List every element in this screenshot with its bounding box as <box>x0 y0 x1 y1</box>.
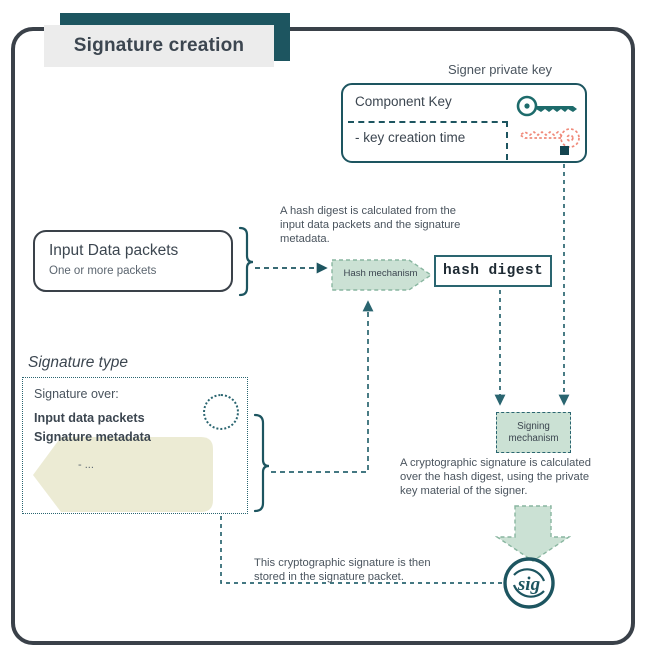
signature-over-label: Signature over: <box>34 387 119 401</box>
signature-metadata-tag-shape <box>33 437 213 512</box>
signature-output-arrow <box>495 505 571 563</box>
hash-digest-box: hash digest <box>434 255 552 287</box>
key-solid-icon <box>518 97 577 115</box>
signer-private-key-label: Signer private key <box>448 62 552 77</box>
stored-signature-text: This cryptographic signature is then sto… <box>254 556 474 584</box>
signature-badge-icon: sig <box>503 557 555 609</box>
key-dashed-icon <box>520 129 579 147</box>
component-key-box: Component Key - key creation time <box>341 83 587 163</box>
private-key-anchor-node <box>560 146 569 155</box>
signature-over-item-0: Input data packets <box>34 411 145 425</box>
signature-badge-label: sig <box>517 574 540 595</box>
collector-circle-node <box>203 394 239 430</box>
signing-description-text: A cryptographic signature is calculated … <box>400 456 640 498</box>
component-key-title: Component Key <box>355 94 452 109</box>
diagram-canvas: Signature creation Signer private key Co… <box>0 0 649 661</box>
signature-type-title: Signature type <box>28 354 128 372</box>
signature-over-ellipsis: - ... <box>78 459 94 471</box>
input-data-packets-box: Input Data packets One or more packets <box>33 230 233 292</box>
hash-description-text: A hash digest is calculated from the inp… <box>280 204 495 246</box>
key-icons-group <box>515 91 585 157</box>
key-creation-time-label: - key creation time <box>355 130 465 145</box>
page-title: Signature creation <box>44 25 274 67</box>
input-data-packets-title: Input Data packets <box>49 242 178 260</box>
signature-over-item-1: Signature metadata <box>34 430 151 444</box>
signing-mechanism-label: Signing mechanism <box>508 421 558 444</box>
signing-mechanism-box: Signing mechanism <box>496 412 571 453</box>
hash-digest-label: hash digest <box>443 263 543 279</box>
input-data-packets-subtitle: One or more packets <box>49 265 156 277</box>
hash-mechanism-label: Hash mechanism <box>338 268 423 279</box>
page-title-label: Signature creation <box>74 35 244 57</box>
